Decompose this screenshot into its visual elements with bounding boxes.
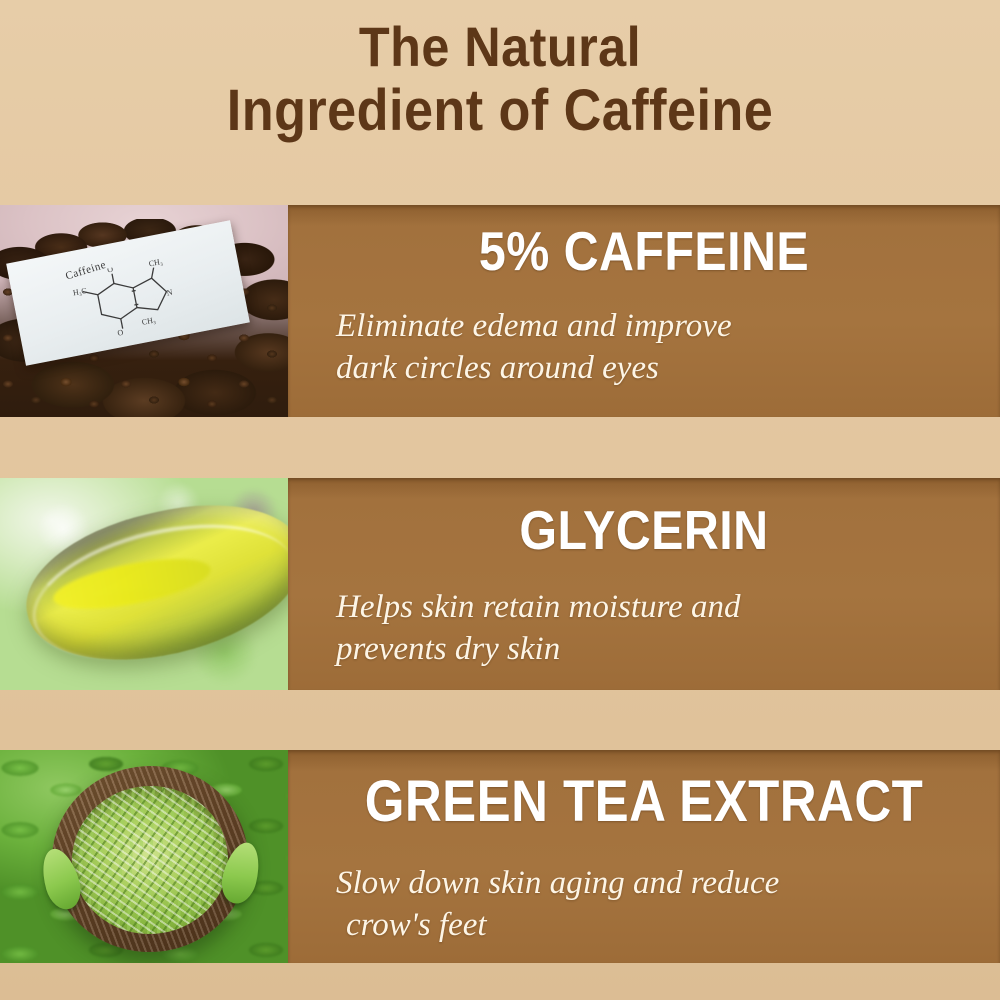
description-line-2: prevents dry skin [336,628,976,670]
ingredient-infographic-poster: The Natural Ingredient of Caffeine Caffe… [0,0,1000,1000]
svg-text:CH₃: CH₃ [148,257,164,269]
caffeine-text-block: 5% CAFFEINE Eliminate edema and improve … [288,205,1000,417]
ingredient-panel-green-tea: GREEN TEA EXTRACT Slow down skin aging a… [0,750,1000,963]
green-tea-text-block: GREEN TEA EXTRACT Slow down skin aging a… [288,750,1000,963]
picked-tea-leaves [68,782,232,938]
svg-text:CH₃: CH₃ [141,315,157,327]
svg-text:H₃C: H₃C [72,286,87,297]
green-tea-photo [0,750,288,963]
svg-text:O: O [106,264,114,274]
description-line-1: Helps skin retain moisture and [336,586,976,628]
ingredient-heading-caffeine: 5% CAFFEINE [331,219,958,283]
wicker-basket [47,761,252,957]
description-line-2: dark circles around eyes [336,347,976,389]
title-line-2: Ingredient of Caffeine [50,81,950,140]
description-line-1: Slow down skin aging and reduce [336,862,976,904]
ingredient-description-caffeine: Eliminate edema and improve dark circles… [336,305,976,389]
ingredient-panel-caffeine: Caffeine O H₃C O [0,205,1000,417]
svg-text:O: O [117,328,125,338]
description-line-2: crow's feet [336,904,976,946]
ingredient-heading-green-tea: GREEN TEA EXTRACT [331,768,958,835]
description-line-1: Eliminate edema and improve [336,305,976,347]
title-line-1: The Natural [50,18,950,75]
basket-interior [68,782,232,938]
ingredient-panel-glycerin: GLYCERIN Helps skin retain moisture and … [0,478,1000,690]
svg-text:N: N [166,288,174,298]
ingredient-description-glycerin: Helps skin retain moisture and prevents … [336,586,976,670]
glycerin-text-block: GLYCERIN Helps skin retain moisture and … [288,478,1000,690]
coffee-beans-photo: Caffeine O H₃C O [0,205,288,417]
ingredient-description-green-tea: Slow down skin aging and reduce crow's f… [336,862,976,946]
ingredient-heading-glycerin: GLYCERIN [331,498,958,562]
glycerin-oil-photo [0,478,288,690]
poster-title: The Natural Ingredient of Caffeine [0,18,1000,140]
